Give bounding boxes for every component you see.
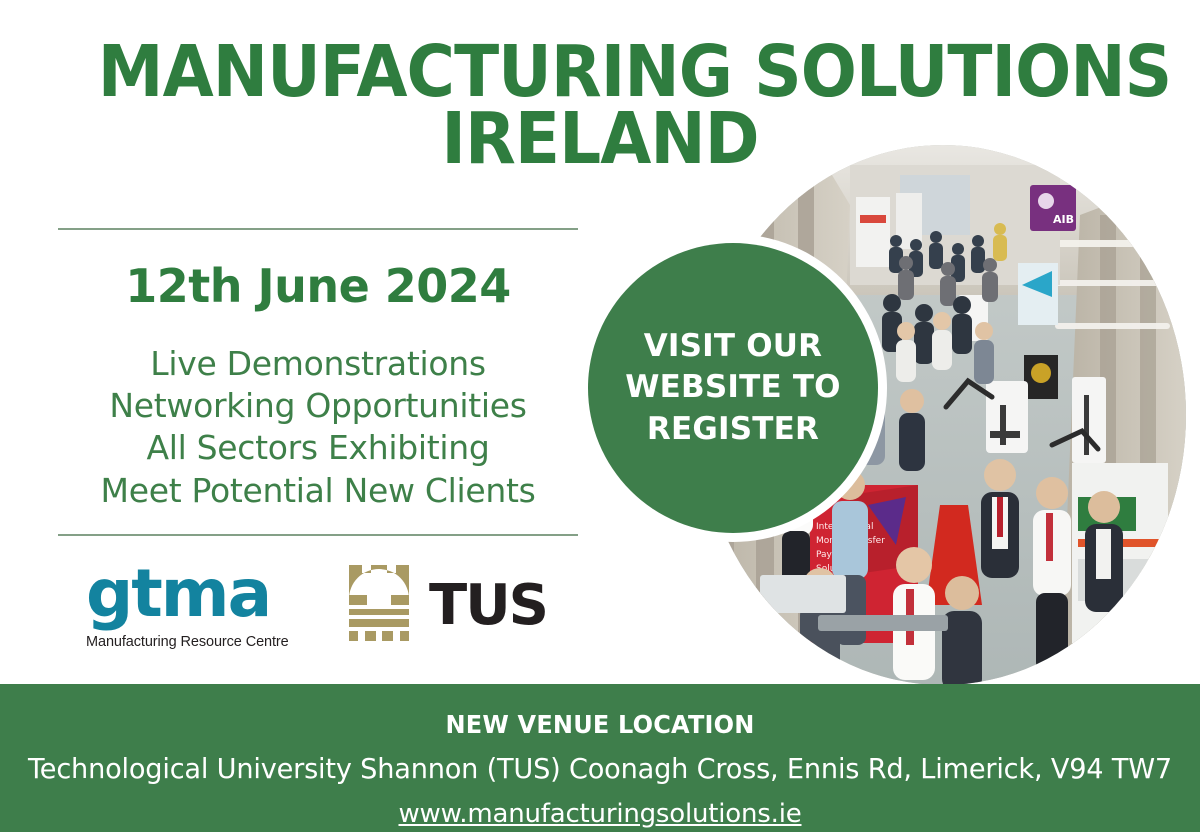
venue-address: Technological University Shannon (TUS) C… (18, 755, 1182, 783)
tus-wordmark: TUS (429, 578, 547, 634)
badge-line-3: REGISTER (625, 409, 840, 450)
event-promo-poster: MANUFACTURING SOLUTIONS IRELAND 12th Jun… (0, 0, 1200, 832)
svg-text:AIB: AIB (1053, 213, 1074, 226)
badge-line-1: VISIT OUR (625, 326, 840, 367)
gtma-logo[interactable]: gtma Manufacturing Resource Centre (86, 561, 316, 650)
title-line-secondary: IRELAND (98, 105, 1102, 172)
page-title: MANUFACTURING SOLUTIONS IRELAND (60, 38, 1140, 173)
event-details-column: 12th June 2024 Live Demonstrations Netwo… (58, 228, 578, 536)
list-item: Meet Potential New Clients (58, 470, 578, 512)
tus-logo[interactable]: TUS (343, 565, 547, 646)
list-item: All Sectors Exhibiting (58, 427, 578, 469)
website-link[interactable]: www.manufacturingsolutions.ie (398, 801, 801, 827)
list-item: Live Demonstrations (58, 343, 578, 385)
badge-line-2: WEBSITE TO (625, 367, 840, 408)
sponsor-logos: gtma Manufacturing Resource Centre (58, 555, 578, 665)
divider-bottom (58, 534, 578, 536)
register-badge-text: VISIT OUR WEBSITE TO REGISTER (625, 326, 840, 450)
event-feature-list: Live Demonstrations Networking Opportuni… (58, 343, 578, 512)
event-date: 12th June 2024 (58, 263, 578, 309)
venue-footer: NEW VENUE LOCATION Technological Univers… (0, 684, 1200, 832)
gtma-tagline: Manufacturing Resource Centre (86, 635, 316, 650)
tus-castle-gate-icon (343, 565, 415, 646)
divider-top (58, 228, 578, 230)
gtma-wordmark: gtma (86, 561, 316, 627)
list-item: Networking Opportunities (58, 385, 578, 427)
venue-heading: NEW VENUE LOCATION (24, 684, 1176, 737)
title-line-primary: MANUFACTURING SOLUTIONS (98, 38, 1102, 105)
register-badge[interactable]: VISIT OUR WEBSITE TO REGISTER (588, 243, 878, 533)
